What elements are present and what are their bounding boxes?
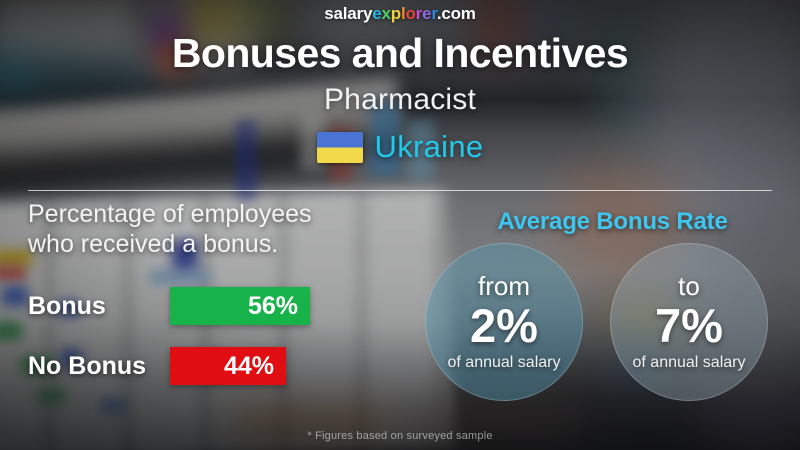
job-title: Pharmacist xyxy=(0,83,800,117)
site-logo[interactable]: salaryexplorer.com xyxy=(0,4,800,24)
bar-label-bonus: Bonus xyxy=(28,292,170,321)
lead-line-1: Percentage of employees xyxy=(28,200,428,230)
header-divider xyxy=(28,190,772,191)
circle-subtitle-from: of annual salary xyxy=(448,355,561,371)
bonus-rate-to-circle: to 7% of annual salary xyxy=(610,243,768,401)
lead-text: Percentage of employees who received a b… xyxy=(28,200,428,259)
average-bonus-rate-title: Average Bonus Rate xyxy=(450,208,775,236)
circle-prefix-to: to xyxy=(678,273,700,299)
circle-value-to: 7% xyxy=(655,301,723,350)
page-title: Bonuses and Incentives xyxy=(0,30,800,77)
logo-salary: salary xyxy=(324,4,372,23)
ukraine-flag-icon xyxy=(317,132,363,163)
country-name: Ukraine xyxy=(375,129,484,165)
bar-value-bonus: 56% xyxy=(248,292,298,321)
lead-line-2: who received a bonus. xyxy=(28,230,428,260)
logo-explorer: explorer xyxy=(372,4,437,23)
circle-value-from: 2% xyxy=(470,301,538,350)
infographic-card: salaryexplorer.com Bonuses and Incentive… xyxy=(0,0,800,450)
country-row: Ukraine xyxy=(0,129,800,165)
chart-row: Bonus 56% xyxy=(28,287,328,325)
logo-tld: .com xyxy=(437,4,476,23)
bonus-rate-from-circle: from 2% of annual salary xyxy=(425,243,583,401)
bar-value-no-bonus: 44% xyxy=(224,352,274,381)
chart-row: No Bonus 44% xyxy=(28,347,328,385)
circle-prefix-from: from xyxy=(478,273,530,299)
circle-subtitle-to: of annual salary xyxy=(633,355,746,371)
bar-no-bonus: 44% xyxy=(170,347,286,385)
footnote: * Figures based on surveyed sample xyxy=(0,430,800,442)
bonus-bar-chart: Bonus 56% No Bonus 44% xyxy=(28,287,328,407)
bar-label-no-bonus: No Bonus xyxy=(28,352,170,381)
bar-bonus: 56% xyxy=(170,287,310,325)
